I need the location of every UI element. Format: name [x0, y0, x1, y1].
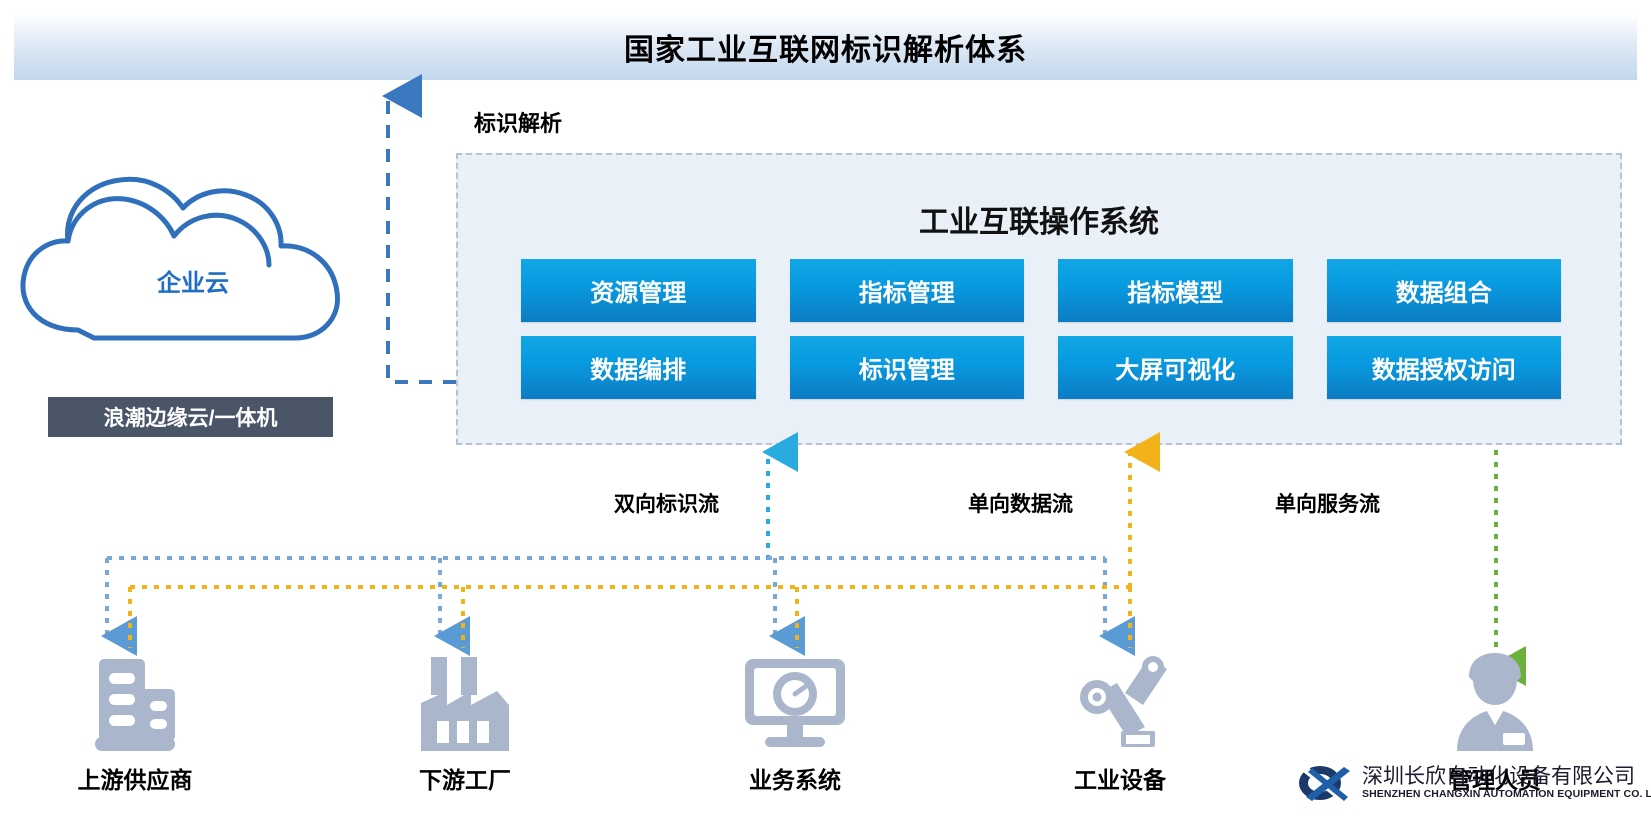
monitor-gauge-icon [690, 648, 900, 753]
node-upstream-supplier[interactable]: 上游供应商 [30, 648, 240, 795]
company-name-en: SHENZHEN CHANGXIN AUTOMATION EQUIPMENT C… [1362, 789, 1651, 800]
company-name-cn: 深圳长欣自动化设备有限公司 [1362, 766, 1651, 788]
robot-arm-icon [1015, 648, 1225, 753]
diagram-canvas: 国家工业互联网标识解析体系 企业云 浪潮边缘云/一体机 标识解析 工业互联操作系… [0, 0, 1651, 838]
node-label: 下游工厂 [360, 761, 570, 795]
company-logo-icon [1298, 761, 1354, 805]
wire-cloud-to-os [388, 96, 456, 382]
company-watermark: 深圳长欣自动化设备有限公司 SHENZHEN CHANGXIN AUTOMATI… [1298, 752, 1646, 814]
node-label: 业务系统 [690, 761, 900, 795]
node-label: 上游供应商 [30, 761, 240, 795]
factory-icon [360, 648, 570, 753]
company-watermark-text: 深圳长欣自动化设备有限公司 SHENZHEN CHANGXIN AUTOMATI… [1362, 766, 1651, 799]
node-downstream-factory[interactable]: 下游工厂 [360, 648, 570, 795]
office-building-icon [30, 648, 240, 753]
node-industrial-equipment[interactable]: 工业设备 [1015, 648, 1225, 795]
person-icon [1390, 648, 1600, 753]
node-label: 工业设备 [1015, 761, 1225, 795]
node-business-system[interactable]: 业务系统 [690, 648, 900, 795]
